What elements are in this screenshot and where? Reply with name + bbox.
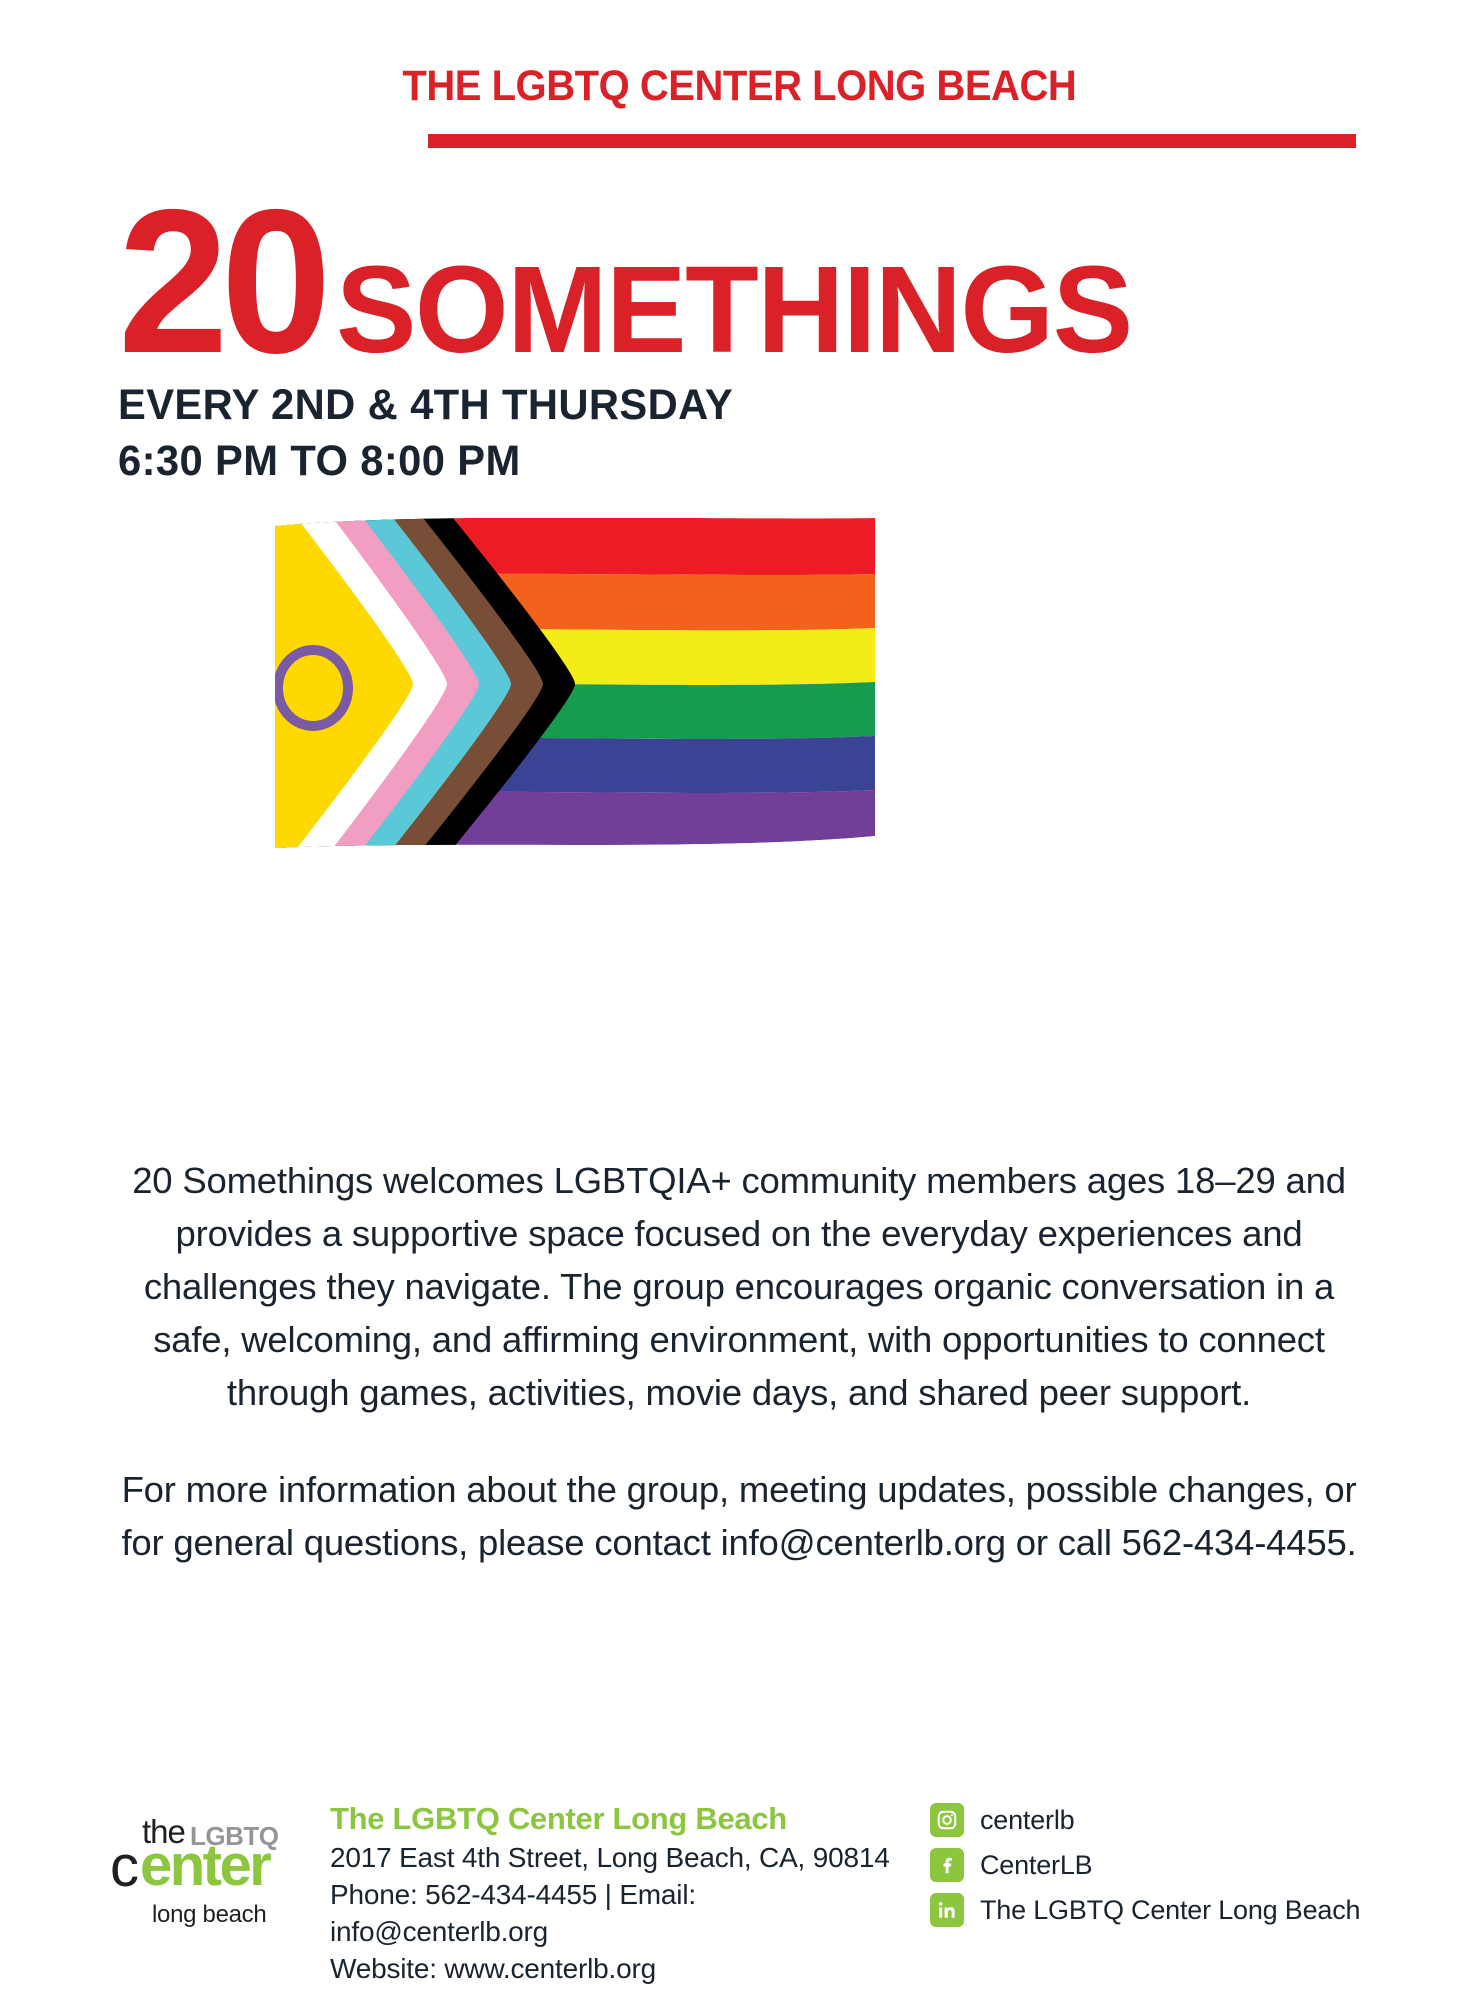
social-links: centerlb CenterLB The LGBTQ Center Long … [930,1803,1370,1938]
description-paragraph-1: 20 Somethings welcomes LGBTQIA+ communit… [112,1155,1366,1420]
organization-title: THE LGBTQ CENTER LONG BEACH [402,62,1076,111]
schedule-days: EVERY 2ND & 4TH THURSDAY [118,378,1331,434]
logo-word-enter: enter [140,1837,269,1895]
social-row-facebook[interactable]: CenterLB [930,1848,1370,1882]
contact-org-name: The LGBTQ Center Long Beach [330,1799,890,1839]
instagram-icon[interactable] [930,1803,964,1837]
program-title-word: SOMETHINGS [336,259,1132,362]
facebook-icon[interactable] [930,1848,964,1882]
progress-pride-flag-image [275,518,875,848]
facebook-handle[interactable]: CenterLB [980,1850,1092,1881]
contact-phone-email: Phone: 562-434-4455 | Email: info@center… [330,1876,890,1950]
social-row-instagram[interactable]: centerlb [930,1803,1370,1837]
center-logo: the LGBTQ c enter long beach [112,1813,282,1928]
contact-block: The LGBTQ Center Long Beach 2017 East 4t… [330,1799,890,1988]
program-title: 20 SOMETHINGS [118,196,1368,368]
schedule-time: 6:30 PM TO 8:00 PM [118,434,1331,490]
instagram-handle[interactable]: centerlb [980,1805,1074,1836]
description-paragraph-2: For more information about the group, me… [112,1464,1366,1570]
schedule-block: EVERY 2ND & 4TH THURSDAY 6:30 PM TO 8:00… [118,378,1331,490]
header-divider-bar [428,134,1356,148]
program-title-number: 20 [118,196,324,368]
hero-title-block: 20 SOMETHINGS EVERY 2ND & 4TH THURSDAY 6… [118,196,1368,490]
pride-flag-svg [275,518,875,848]
linkedin-icon[interactable] [930,1893,964,1927]
program-description: 20 Somethings welcomes LGBTQIA+ communit… [112,1155,1366,1569]
page-header: THE LGBTQ CENTER LONG BEACH [0,62,1478,111]
logo-letter-c: c [110,1838,139,1896]
page-footer: the LGBTQ c enter long beach The LGBTQ C… [0,1795,1478,1975]
logo-word-long-beach: long beach [152,1901,266,1929]
social-row-linkedin[interactable]: The LGBTQ Center Long Beach [930,1893,1370,1927]
linkedin-handle[interactable]: The LGBTQ Center Long Beach [980,1895,1360,1926]
contact-address: 2017 East 4th Street, Long Beach, CA, 90… [330,1839,890,1876]
contact-website: Website: www.centerlb.org [330,1950,890,1987]
